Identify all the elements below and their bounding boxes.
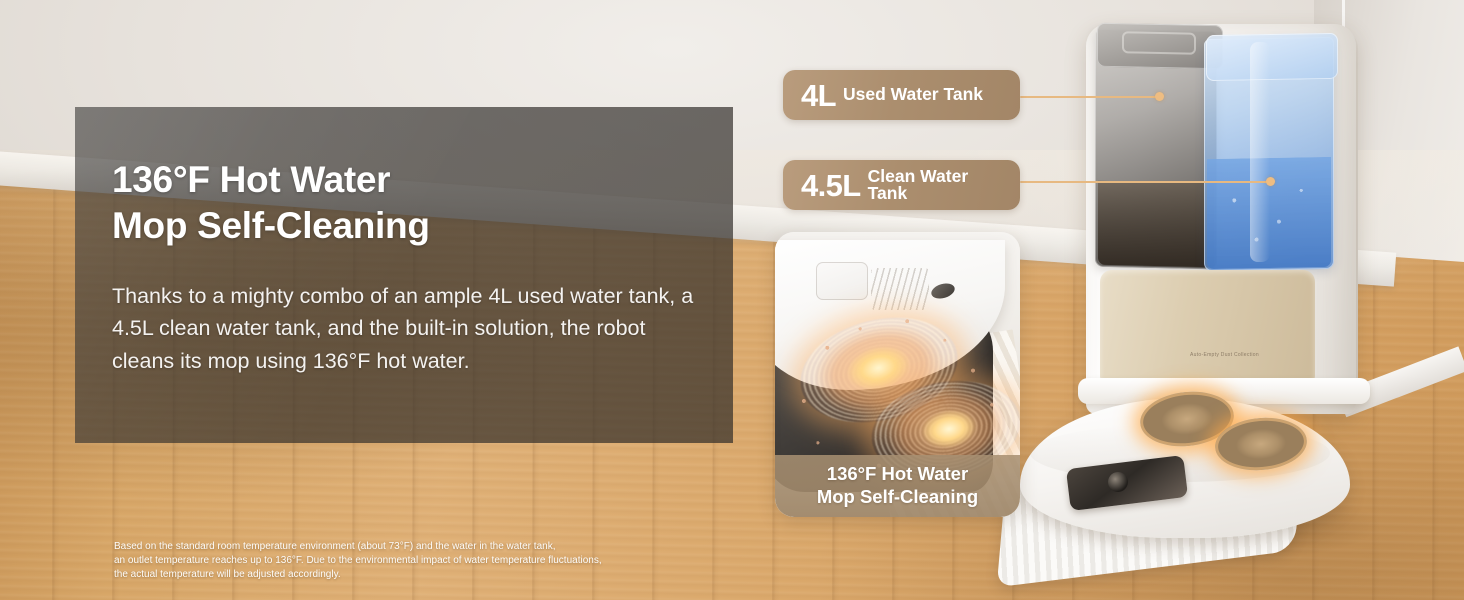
badge-label-clean: Clean Water Tank [868, 168, 1002, 203]
callout-badge-used-water-tank: 4L Used Water Tank [783, 70, 1020, 120]
dock-model-label: Auto-Empty Dust Collection [1190, 352, 1300, 361]
inset-caption-line-2: Mop Self-Cleaning [817, 486, 978, 509]
inset-robot-panel [816, 262, 868, 300]
callout-badge-clean-water-tank: 4.5L Clean Water Tank [783, 160, 1020, 210]
body-description: Thanks to a mighty combo of an ample 4L … [112, 280, 702, 378]
footnote-line-3: the actual temperature will be adjusted … [114, 568, 814, 582]
clean-water-tank-lid [1206, 33, 1338, 81]
inset-feature-card: 136°F Hot Water Mop Self-Cleaning [775, 232, 1020, 517]
used-water-tank-handle [1122, 31, 1196, 55]
tank-gloss-highlight [1250, 42, 1270, 262]
inset-robot-vent [871, 268, 929, 310]
inset-caption-line-1: 136°F Hot Water [827, 463, 968, 486]
leader-line-used-tank [1020, 96, 1160, 98]
leader-dot-used-tank [1155, 92, 1164, 101]
footnote-line-1: Based on the standard room temperature e… [114, 540, 814, 554]
inset-caption-bar: 136°F Hot Water Mop Self-Cleaning [775, 455, 1020, 517]
feature-text-panel: 136°F Hot Water Mop Self-Cleaning Thanks… [75, 107, 733, 443]
badge-value-used: 4L [801, 80, 836, 111]
page-title: 136°F Hot Water Mop Self-Cleaning [112, 157, 702, 250]
dock-accent-panel [1100, 270, 1315, 382]
leader-line-clean-tank [1020, 181, 1272, 183]
footnote-line-2: an outlet temperature reaches up to 136°… [114, 554, 814, 568]
disclaimer-footnote: Based on the standard room temperature e… [114, 540, 814, 583]
used-water-tank-contents [1098, 181, 1214, 267]
badge-value-clean: 4.5L [801, 170, 861, 201]
badge-label-used: Used Water Tank [843, 86, 983, 104]
headline-line-1: 136°F Hot Water [112, 157, 702, 203]
product-feature-banner: 136°F Hot Water Mop Self-Cleaning Thanks… [0, 0, 1464, 600]
headline-line-2: Mop Self-Cleaning [112, 203, 702, 249]
inset-robot-sensor-icon [930, 281, 957, 301]
leader-dot-clean-tank [1266, 177, 1275, 186]
panel-content: 136°F Hot Water Mop Self-Cleaning Thanks… [112, 157, 702, 378]
